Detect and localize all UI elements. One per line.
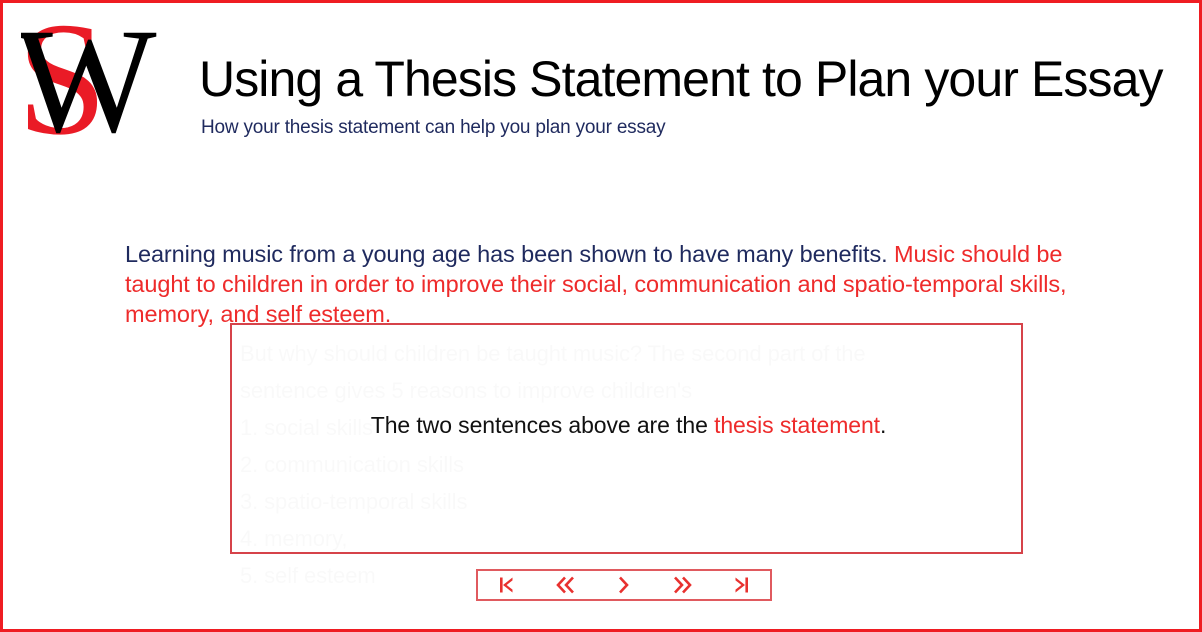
double-chevron-left-icon [554, 575, 578, 595]
ghost-line: But why should children be taught music?… [240, 335, 1010, 372]
ghost-line: 2. communication skills [240, 446, 1010, 483]
lead-paragraph: Learning music from a young age has been… [125, 239, 1125, 329]
slide-header: S W Using a Thesis Statement to Plan you… [3, 3, 1202, 193]
ghost-transition-text: But why should children be taught music?… [240, 335, 1010, 594]
next-slide-button[interactable] [595, 571, 653, 599]
skip-to-start-icon [496, 574, 518, 596]
previous-slide-button[interactable] [536, 571, 594, 599]
slide-navigation-bar [476, 569, 772, 601]
title-block: Using a Thesis Statement to Plan your Es… [199, 51, 1189, 140]
double-chevron-right-icon [670, 575, 694, 595]
page-subtitle: How your thesis statement can help you p… [201, 116, 1189, 140]
page-title: Using a Thesis Statement to Plan your Es… [199, 51, 1189, 107]
first-slide-button[interactable] [478, 571, 536, 599]
ws-logo: S W [21, 11, 196, 191]
frame-statement-highlight: thesis statement [714, 412, 880, 438]
fast-forward-button[interactable] [653, 571, 711, 599]
slide-page: S W Using a Thesis Statement to Plan you… [0, 0, 1202, 632]
skip-to-end-icon [730, 574, 752, 596]
chevron-right-icon [615, 575, 633, 595]
frame-statement-suffix: . [880, 412, 886, 438]
lead-intro-text: Learning music from a young age has been… [125, 241, 894, 267]
frame-statement-prefix: The two sentences above are the [371, 412, 714, 438]
ghost-line: 3. spatio-temporal skills [240, 483, 1010, 520]
content-frame: But why should children be taught music?… [230, 323, 1023, 554]
ghost-line: sentence gives 5 reasons to improve chil… [240, 372, 1010, 409]
logo-letter-w: W [21, 11, 157, 164]
frame-statement: The two sentences above are the thesis s… [232, 411, 1025, 439]
last-slide-button[interactable] [712, 571, 770, 599]
ghost-line: 4. memory, [240, 520, 1010, 557]
